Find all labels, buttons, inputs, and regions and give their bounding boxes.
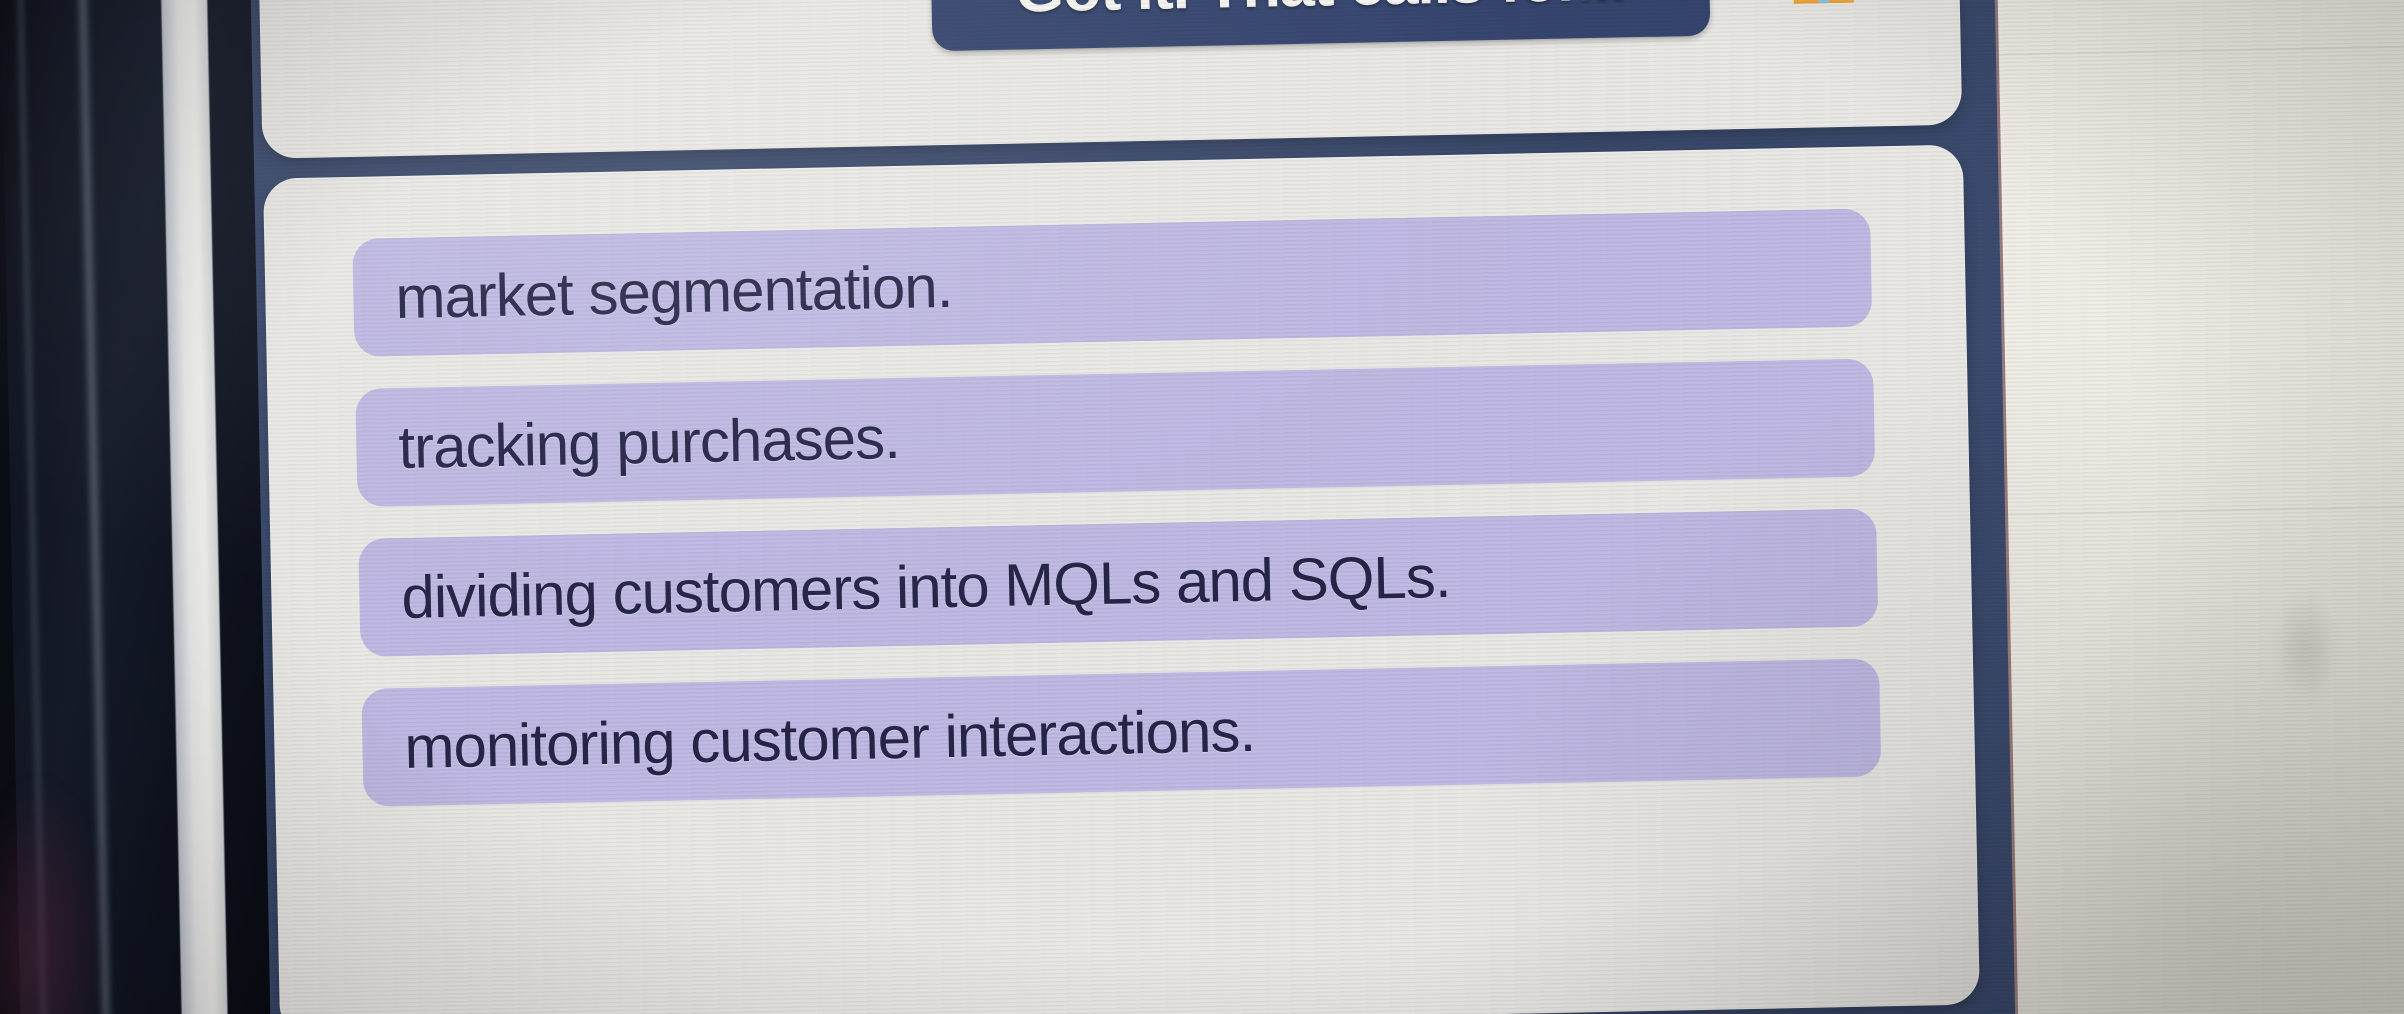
margin-smudge xyxy=(2270,587,2342,708)
answer-option-1[interactable]: market segmentation. xyxy=(352,208,1872,356)
office-worker-emoji-icon xyxy=(1755,0,1890,5)
margin-seam xyxy=(1999,43,2404,55)
answer-option-label: dividing customers into MQLs and SQLs. xyxy=(401,541,1451,631)
answer-option-label: monitoring customer interactions. xyxy=(404,695,1256,781)
screen-photo: Issa Karali Got it. That calls for... xyxy=(0,0,2404,1014)
answer-options-card: market segmentation. tracking purchases.… xyxy=(263,145,1980,1014)
page-right-margin: © xyxy=(1996,0,2404,1014)
answer-option-3[interactable]: dividing customers into MQLs and SQLs. xyxy=(358,508,1878,656)
answer-option-2[interactable]: tracking purchases. xyxy=(355,358,1875,506)
screen-content: Issa Karali Got it. That calls for... xyxy=(196,0,2404,1014)
answer-option-label: market segmentation. xyxy=(395,251,953,331)
question-text: Got it. That calls for... xyxy=(1014,0,1626,27)
answer-option-4[interactable]: monitoring customer interactions. xyxy=(361,658,1881,806)
margin-seam xyxy=(2008,503,2404,515)
answer-option-label: tracking purchases. xyxy=(398,402,901,481)
question-bubble: Got it. That calls for... xyxy=(930,0,1710,51)
bezel-reflection xyxy=(0,774,110,1014)
